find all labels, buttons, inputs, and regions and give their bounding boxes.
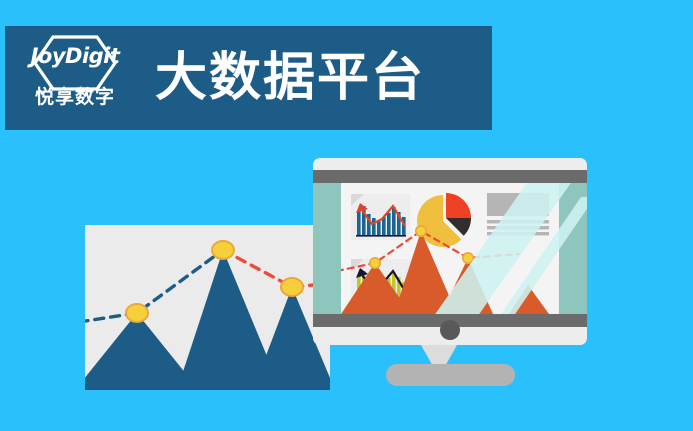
page-title: 大数据平台 — [155, 52, 425, 104]
monitor-top-bezel — [313, 170, 587, 183]
monitor-stand-base — [386, 364, 515, 386]
banner-graphic: JoyDigit 悦享数字 大数据平台 — [0, 0, 693, 431]
logo-subtitle: 悦享数字 — [35, 82, 115, 109]
monitor-screen — [313, 183, 587, 314]
left-chart-panel — [85, 225, 330, 390]
screen-side-band-left — [313, 183, 341, 314]
trend-line-blue — [85, 250, 223, 322]
logo-wordmark: JoyDigit — [31, 44, 120, 68]
header-bar: JoyDigit 悦享数字 大数据平台 — [5, 26, 492, 130]
screen-side-band-right — [559, 183, 587, 314]
dashboard-content — [341, 183, 559, 314]
left-mountain-chart — [85, 225, 330, 390]
monitor — [313, 158, 587, 345]
logo: JoyDigit 悦享数字 — [19, 33, 131, 123]
monitor-power-indicator[interactable] — [440, 320, 460, 340]
screen-mountain-chart — [341, 183, 559, 314]
mountain-shape-mid — [441, 258, 493, 314]
mountain-shape-right — [509, 285, 549, 314]
